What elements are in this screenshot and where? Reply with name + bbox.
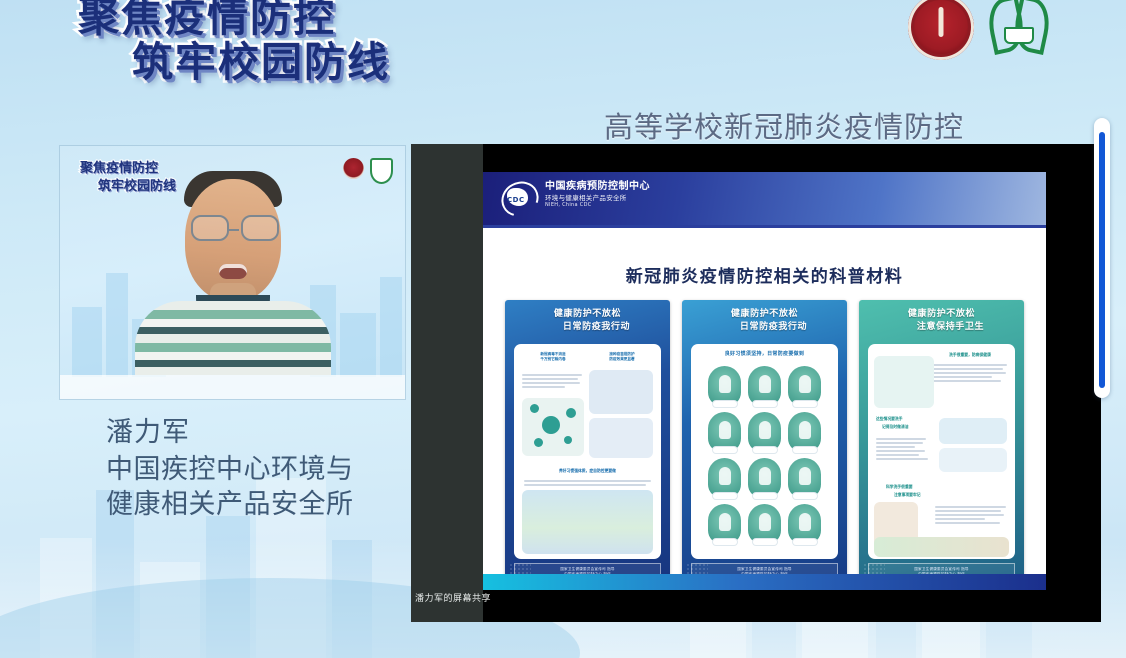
speaker-affiliation-line1: 中国疾控中心环境与	[106, 452, 354, 487]
poster-2-card: 良好习惯须坚持，日常防疫要做到	[691, 344, 838, 559]
screen-share-letterbox	[411, 144, 483, 622]
poster-1-sub-right: 接种疫苗是防护 防疫效果更显著	[591, 352, 653, 363]
prevention-icon-nogather	[708, 412, 741, 452]
poster-3-heading: 健康防护不放松 注意保持手卫生	[859, 308, 1024, 334]
poster-1-clinic-illustration	[589, 418, 653, 458]
poster-3-sub-mid-line2: 记得及时做清洁	[882, 424, 944, 430]
poster-daily-prevention-1[interactable]: 健康防护不放松 日常防疫我行动 新冠病毒不消逝 千万别它躲内卷 接种疫苗是防护 …	[505, 300, 670, 585]
poster-3-faucet-illustration	[874, 356, 934, 408]
organization-logos: PEKING UNIVERSITY	[908, 0, 1052, 60]
prevention-icon-vaccine	[788, 458, 821, 498]
prevention-icon-distance	[748, 412, 781, 452]
china-cdc-logo-icon: CDC	[499, 180, 539, 216]
poster-1-heading: 健康防护不放松 日常防疫我行动	[505, 308, 670, 334]
presentation-slide[interactable]: CDC 中国疾病预防控制中心 环境与健康相关产品安全所 NIEH, China …	[483, 172, 1046, 590]
poster-3-school-illustration	[874, 537, 1009, 557]
banner-title: 聚焦疫情防控 筑牢校园防线	[70, 0, 500, 83]
poster-2-subtitle: 良好习惯须坚持，日常防疫要做到	[691, 350, 838, 357]
poster-3-mask-illustration	[939, 448, 1007, 472]
green-shield-icon	[370, 158, 393, 184]
video-corner-logos	[343, 158, 393, 184]
poster-1-campus-illustration	[522, 490, 653, 554]
poster-1-card: 新冠病毒不消逝 千万别它躲内卷 接种疫苗是防护 防疫效果更显著	[514, 344, 661, 559]
prevention-icon-healthcode	[788, 504, 821, 544]
poster-2-heading: 健康防护不放松 日常防疫我行动	[682, 308, 847, 334]
video-overlay-title: 聚焦疫情防控 筑牢校园防线	[80, 160, 176, 195]
poster-3-handwash-illustration	[939, 418, 1007, 444]
meeting-screen: 聚焦疫情防控 筑牢校园防线 PEKING UNIVERSITY 高等学校新冠肺炎…	[0, 0, 1126, 658]
prevention-icon-exercise	[748, 504, 781, 544]
poster-1-sub-bottom: 养好习惯强体质，症自防控更要做	[522, 468, 653, 474]
video-overlay-line1: 聚焦疫情防控	[80, 161, 158, 176]
prevention-icon-chopstick	[708, 458, 741, 498]
screen-share-region[interactable]: 潘力军的屏幕共享 CDC 中国疾病预防控制中心 环境与健康相关产品安全所 NIE…	[411, 144, 1101, 622]
poster-row: 健康防护不放松 日常防疫我行动 新冠病毒不消逝 千万别它躲内卷 接种疫苗是防护 …	[505, 300, 1024, 585]
prevention-icon-mask	[708, 366, 741, 406]
poster-1-virus-illustration	[522, 398, 584, 456]
pku-health-science-center-logo	[908, 0, 974, 60]
child-adolescent-health-logo: PEKING UNIVERSITY	[986, 0, 1052, 56]
poster-1-heading-line2: 日常防疫我行动	[505, 321, 670, 334]
prevention-icon-diet	[748, 458, 781, 498]
slide-org-en: NIEH, China CDC	[545, 202, 650, 209]
poster-hand-hygiene[interactable]: 健康防护不放松 注意保持手卫生 洗手很重要，防病保健康 这些情况要洗手 记得及时…	[859, 300, 1024, 585]
poster-1-heading-line1: 健康防护不放松	[554, 309, 621, 319]
poster-3-sub-bottom-line2: 注意事项要牢记	[894, 492, 921, 498]
slide-footer-bar	[483, 574, 1046, 590]
poster-1-vaccination-illustration	[589, 370, 653, 414]
poster-1-sub-left: 新冠病毒不消逝 千万别它躲内卷	[522, 352, 584, 363]
banner-title-line2: 筑牢校园防线	[70, 41, 500, 84]
video-overlay-line2: 筑牢校园防线	[80, 178, 176, 196]
poster-3-heading-line1: 健康防护不放松	[908, 309, 975, 319]
poster-3-sub-top: 洗手很重要，防病保健康	[933, 352, 1007, 358]
poster-2-heading-line2: 日常防疫我行动	[682, 321, 847, 334]
scrollbar-thumb[interactable]	[1099, 132, 1105, 388]
speaker-name: 潘力军	[106, 415, 354, 450]
poster-3-sub-bottom-line1: 科学洗手很重要	[886, 484, 913, 490]
prevention-icon-ventilate	[788, 366, 821, 406]
poster-3-sub-mid-line1: 这些情况要洗手	[876, 416, 938, 422]
red-seal-icon	[343, 158, 364, 179]
poster-2-heading-line1: 健康防护不放松	[731, 309, 798, 319]
slide-header-bar: CDC 中国疾病预防控制中心 环境与健康相关产品安全所 NIEH, China …	[483, 172, 1046, 228]
screen-share-label: 潘力军的屏幕共享	[415, 591, 491, 604]
slide-org-dept: 环境与健康相关产品安全所	[545, 194, 650, 203]
banner-title-line1: 聚焦疫情防控	[70, 0, 500, 39]
cdc-logo-mark: CDC	[507, 196, 525, 204]
poster-daily-prevention-2[interactable]: 健康防护不放松 日常防疫我行动 良好习惯须坚持，日常防疫要做到	[682, 300, 847, 585]
prevention-icon-report	[708, 504, 741, 544]
poster-3-card: 洗手很重要，防病保健康 这些情况要洗手 记得及时做清洁	[868, 344, 1015, 559]
speaker-video-tile[interactable]: 聚焦疫情防控 筑牢校园防线	[60, 146, 405, 399]
speaker-caption: 潘力军 中国疾控中心环境与 健康相关产品安全所	[106, 415, 354, 522]
slide-title: 新冠肺炎疫情防控相关的科普材料	[483, 262, 1046, 287]
slide-org-name: 中国疾病预防控制中心	[545, 180, 650, 194]
poster-3-heading-line2: 注意保持手卫生	[859, 321, 1024, 334]
speaker-affiliation-line2: 健康相关产品安全所	[106, 487, 354, 522]
page-title: 高等学校新冠肺炎疫情防控	[604, 104, 964, 146]
vertical-scrollbar[interactable]	[1094, 118, 1110, 398]
prevention-icon-handwash	[748, 366, 781, 406]
prevention-icon-cough	[788, 412, 821, 452]
slide-org-text: 中国疾病预防控制中心 环境与健康相关产品安全所 NIEH, China CDC	[545, 180, 650, 209]
poster-2-icon-grid	[699, 366, 830, 544]
